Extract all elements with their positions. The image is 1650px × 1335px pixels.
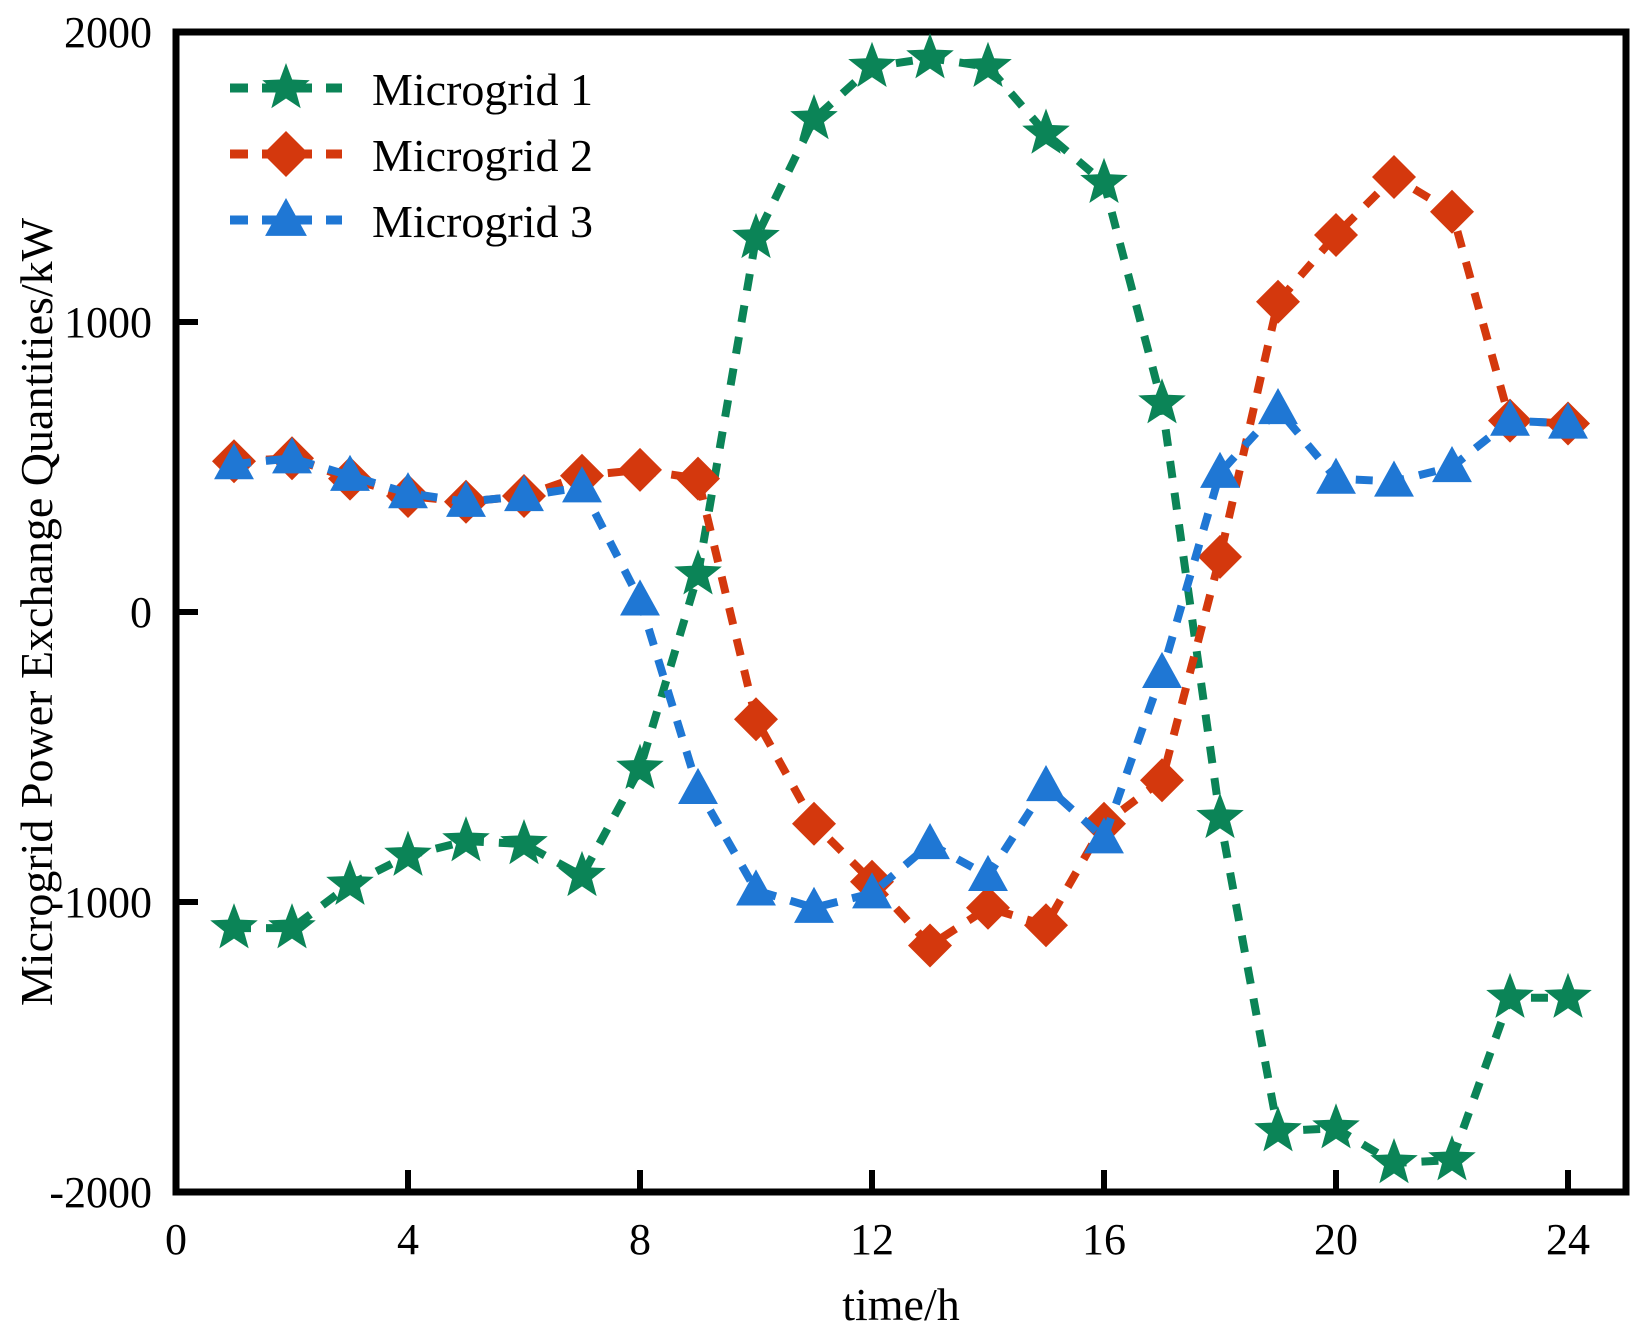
legend-label: Microgrid 1 xyxy=(372,64,593,115)
data-point xyxy=(1256,280,1300,324)
data-point xyxy=(1140,758,1184,802)
x-tick-label: 24 xyxy=(1546,1215,1590,1264)
data-point xyxy=(1254,1106,1302,1151)
data-point xyxy=(268,903,316,948)
data-point xyxy=(736,869,776,905)
x-tick-label: 0 xyxy=(165,1215,187,1264)
x-axis-title: time/h xyxy=(842,1279,960,1330)
data-point xyxy=(678,768,718,804)
data-point xyxy=(210,903,258,948)
data-point xyxy=(906,33,954,78)
y-tick-label: -2000 xyxy=(49,1168,152,1217)
data-point xyxy=(968,855,1008,891)
x-tick-label: 20 xyxy=(1314,1215,1358,1264)
data-point xyxy=(1486,973,1534,1018)
data-point xyxy=(616,744,664,789)
data-point xyxy=(790,94,838,139)
data-point xyxy=(384,831,432,876)
data-point xyxy=(734,697,778,741)
data-point xyxy=(910,823,950,859)
data-point xyxy=(1312,1103,1360,1148)
legend-label: Microgrid 3 xyxy=(372,196,593,247)
y-tick-label: 1000 xyxy=(64,298,152,347)
y-axis-title: Microgrid Power Exchange Quantities/kW xyxy=(11,217,62,1006)
y-tick-label: 2000 xyxy=(64,8,152,57)
y-tick-label: -1000 xyxy=(49,878,152,927)
data-point xyxy=(1430,190,1474,234)
data-point xyxy=(792,802,836,846)
legend-label: Microgrid 2 xyxy=(372,130,593,181)
data-point xyxy=(1370,1138,1418,1183)
series-line xyxy=(234,409,1568,908)
data-point xyxy=(442,816,490,861)
series-line xyxy=(234,177,1568,946)
data-point xyxy=(1026,765,1066,801)
x-tick-label: 16 xyxy=(1082,1215,1126,1264)
data-point xyxy=(1316,458,1356,494)
data-point xyxy=(1138,378,1186,423)
data-point xyxy=(1258,388,1298,424)
series-3 xyxy=(214,388,1588,923)
data-point xyxy=(1024,903,1068,947)
x-tick-label: 4 xyxy=(397,1215,419,1264)
data-point xyxy=(1374,461,1414,497)
data-point xyxy=(620,579,660,615)
series-2 xyxy=(212,155,1590,968)
data-point xyxy=(1432,446,1472,482)
data-point xyxy=(964,42,1012,87)
data-point xyxy=(848,42,896,87)
data-point xyxy=(1428,1135,1476,1180)
y-tick-label: 0 xyxy=(130,588,152,637)
data-point xyxy=(558,851,606,896)
x-tick-label: 8 xyxy=(629,1215,651,1264)
chart-figure: Microgrid 1Microgrid 2Microgrid 3 048121… xyxy=(0,0,1650,1335)
data-point xyxy=(1142,652,1182,688)
legend-item-2[interactable]: Microgrid 2 xyxy=(230,130,593,181)
data-point xyxy=(1372,155,1416,199)
data-point xyxy=(966,886,1010,930)
data-point xyxy=(1196,793,1244,838)
x-tick-label: 12 xyxy=(850,1215,894,1264)
data-point xyxy=(908,924,952,968)
data-point xyxy=(618,448,662,492)
data-point xyxy=(1544,973,1592,1018)
line-chart-svg: Microgrid 1Microgrid 2Microgrid 3 048121… xyxy=(0,0,1650,1335)
data-point xyxy=(1198,535,1242,579)
legend-layer: Microgrid 1Microgrid 2Microgrid 3 xyxy=(200,38,652,253)
